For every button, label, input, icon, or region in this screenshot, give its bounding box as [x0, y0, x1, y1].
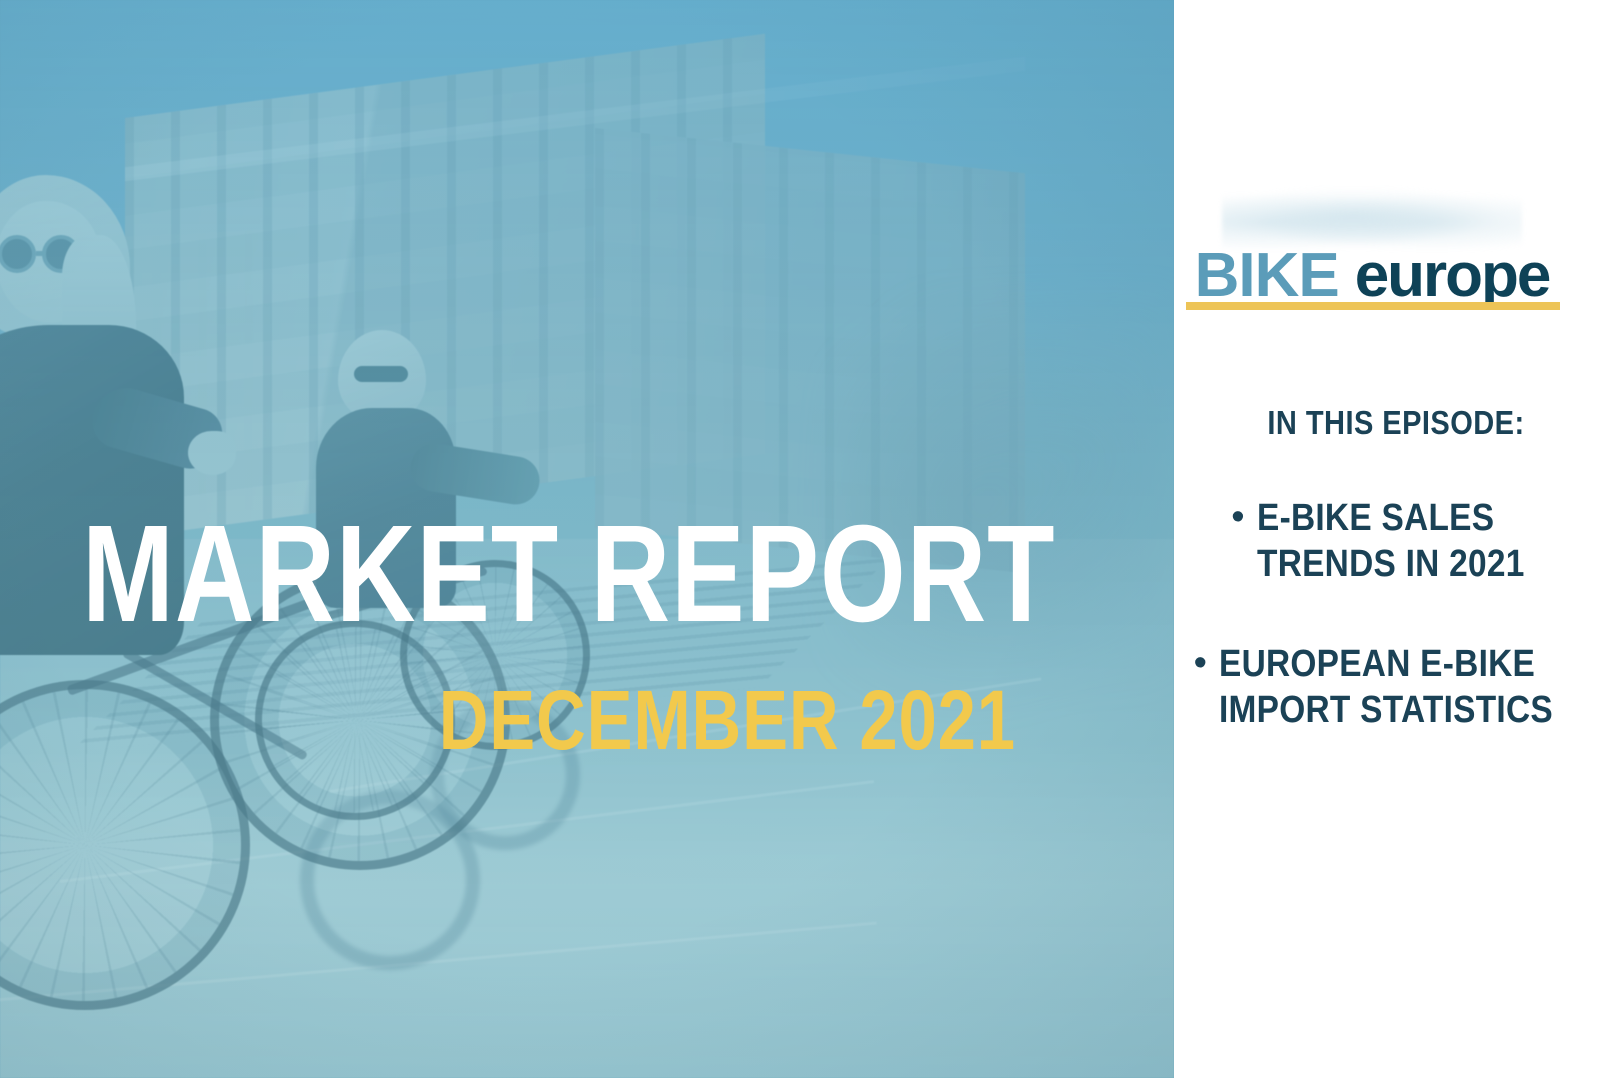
page-title: MARKET REPORT	[82, 510, 882, 638]
logo-word-bike: BIKE	[1195, 240, 1339, 311]
brand-logo: BIKE europe	[1162, 240, 1582, 311]
bullet-marker-icon: •	[1194, 641, 1207, 733]
hero-photo-panel: MARKET REPORT DECEMBER 2021	[0, 0, 1174, 1078]
logo-word-europe: europe	[1355, 240, 1550, 311]
bullet-label-ebike-sales-trends: E-BIKE SALES TRENDS IN 2021	[1257, 495, 1525, 587]
bullet-marker-icon: •	[1231, 495, 1244, 587]
hero-text-block: MARKET REPORT DECEMBER 2021	[82, 510, 1082, 762]
info-panel: BIKE europe IN THIS EPISODE: • E-BIKE SA…	[1174, 0, 1618, 1078]
episode-topic-list: • E-BIKE SALES TRENDS IN 2021 • EUROPEAN…	[1174, 495, 1618, 787]
bullet-label-european-ebike-imports: EUROPEAN E-BIKE IMPORT STATISTICS	[1219, 641, 1553, 733]
slide-root: MARKET REPORT DECEMBER 2021 BIKE europe …	[0, 0, 1618, 1078]
episode-heading: IN THIS EPISODE:	[1201, 404, 1592, 442]
list-item: • EUROPEAN E-BIKE IMPORT STATISTICS	[1174, 641, 1618, 733]
page-subtitle: DECEMBER 2021	[82, 678, 902, 762]
logo-underline-rule	[1186, 302, 1560, 310]
list-item: • E-BIKE SALES TRENDS IN 2021	[1174, 495, 1618, 587]
